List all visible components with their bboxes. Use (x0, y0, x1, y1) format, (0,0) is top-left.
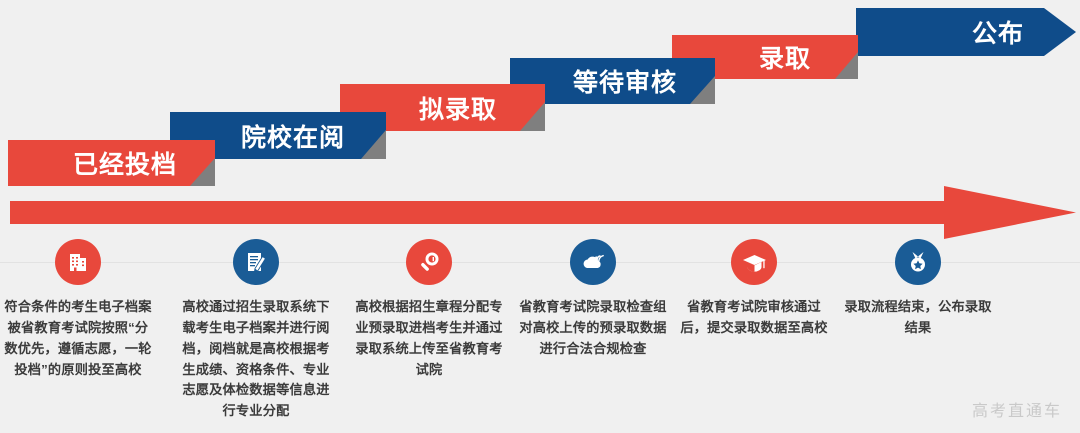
caption-step-6: 录取流程结束，公布录取结果 (842, 297, 994, 339)
caption-step-2: 高校通过招生录取系统下载考生电子档案并进行阅档，阅档就是高校根据考生成绩、资格条… (180, 297, 332, 422)
caption-step-3: 高校根据招生章程分配专业预录取进档考生并通过录取系统上传至省教育考试院 (353, 297, 505, 380)
caption-step-1: 符合条件的考生电子档案被省教育考试院按照“分数优先，遵循志愿，一轮投档”的原则投… (2, 297, 154, 380)
icon-step-4 (570, 239, 616, 285)
cloud-signal-icon (580, 249, 607, 276)
banner-label-5: 录取 (759, 39, 811, 75)
banner-fold-3 (500, 84, 545, 131)
banner-fold-5 (814, 35, 858, 79)
progress-arrow-bar (10, 201, 950, 224)
banner-step-1: 已经投档 (8, 140, 203, 186)
icon-step-6 (895, 239, 941, 285)
banner-label-6: 公布 (972, 14, 1024, 50)
watermark-label: 高考直通车 (972, 397, 1062, 421)
magnifier-icon (416, 249, 442, 275)
icon-step-3 (406, 239, 452, 285)
banner-fold-2 (340, 112, 386, 159)
banner-shape-6 (856, 8, 1076, 56)
building-icon (65, 249, 91, 275)
caption-step-5: 省教育考试院审核通过后，提交录取数据至高校 (678, 297, 830, 339)
progress-arrow-head (944, 186, 1076, 239)
banner-label-2: 院校在阅 (241, 118, 345, 154)
infographic-canvas: 已经投档 院校在阅 拟录取 等待审核 (0, 0, 1080, 433)
icon-step-1 (55, 239, 101, 285)
document-pen-icon (243, 249, 269, 275)
banner-label-3: 拟录取 (419, 90, 497, 126)
icon-step-2 (233, 239, 279, 285)
banner-label-1: 已经投档 (73, 145, 177, 181)
medal-icon (905, 249, 931, 275)
caption-step-4: 省教育考试院录取检查组对高校上传的预录取数据进行合法合规检查 (517, 297, 669, 360)
graduation-cap-icon (741, 249, 768, 276)
banner-label-4: 等待审核 (573, 63, 677, 99)
banner-step-6: 公布 (856, 8, 1076, 56)
icon-step-5 (731, 239, 777, 285)
